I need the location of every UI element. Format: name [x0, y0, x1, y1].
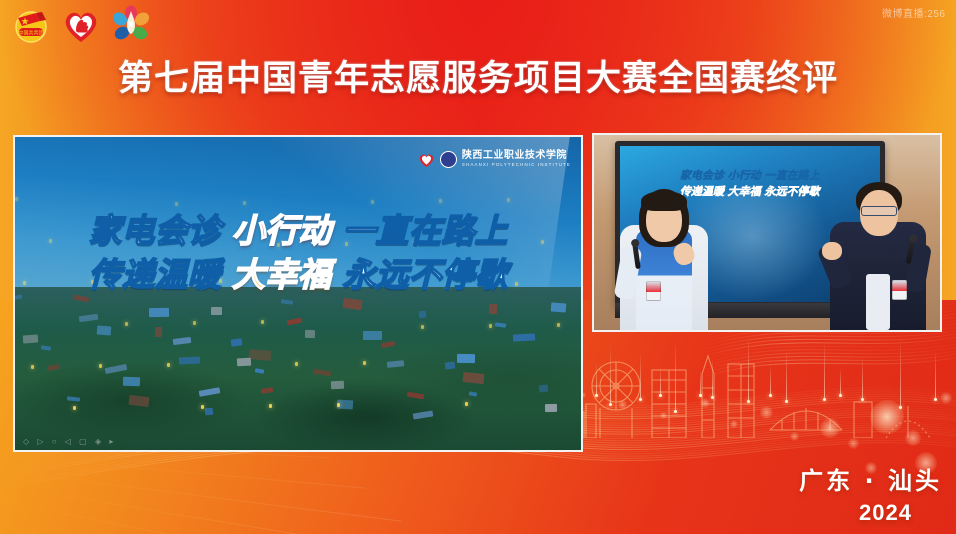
presenter-female-badge: [646, 281, 661, 301]
village-house: [281, 300, 293, 305]
village-house: [255, 368, 265, 374]
village-house: [407, 392, 425, 400]
village-house: [149, 308, 169, 317]
slogan-l1-p3: 一直在路上: [343, 211, 508, 250]
slogan-l2-p1: 传递温暖: [89, 255, 221, 294]
presenter-male-glasses: [861, 206, 897, 216]
video-village-ground: [15, 287, 581, 450]
light-particle: [489, 324, 492, 328]
village-house: [469, 392, 478, 397]
light-particle: [261, 320, 264, 324]
heart-icon: [418, 152, 435, 168]
village-house: [513, 334, 535, 342]
village-house: [179, 357, 200, 365]
presenter-male-badge: [892, 280, 907, 300]
village-house: [463, 372, 485, 384]
village-house: [287, 318, 303, 326]
light-particle: [193, 321, 196, 325]
light-particle: [201, 405, 204, 409]
main-video-panel[interactable]: 陕西工业职业技术学院 SHAANXI POLYTECHNIC INSTITUTE…: [13, 135, 583, 452]
slogan-l2-p2: 大幸福: [232, 255, 331, 294]
presenter-male-shirt: [866, 274, 890, 330]
village-house: [23, 335, 39, 344]
presenter-female-fringe: [641, 191, 687, 211]
village-house: [413, 411, 434, 420]
village-house: [128, 395, 149, 407]
village-house: [545, 404, 557, 412]
village-house: [211, 307, 222, 315]
light-particle: [439, 199, 442, 203]
village-house: [342, 298, 362, 311]
village-house: [67, 397, 80, 402]
light-particle: [73, 406, 76, 410]
village-house: [381, 341, 396, 349]
light-particle: [557, 323, 560, 327]
slogan-l2-p3: 永远不停歇: [343, 255, 508, 294]
light-particle: [243, 201, 246, 205]
light-particle: [363, 361, 366, 365]
presenter-male-hand-left: [822, 242, 842, 260]
village-house: [489, 304, 498, 314]
communist-youth-league-emblem: 中国共青团: [10, 4, 52, 46]
header-banner: 中国共青团: [0, 0, 956, 128]
village-house: [495, 323, 506, 328]
light-particle: [337, 403, 340, 407]
institute-watermark-logo: 陕西工业职业技术学院 SHAANXI POLYTECHNIC INSTITUTE: [418, 151, 571, 168]
village-house: [419, 311, 426, 318]
slogan-l1-p1: 家电会诊: [89, 211, 221, 250]
light-particle: [371, 200, 374, 204]
village-house: [331, 381, 344, 389]
light-particle: [167, 363, 170, 367]
organizer-logos: 中国共青团: [10, 4, 152, 46]
village-house: [551, 303, 567, 313]
village-house: [387, 360, 405, 368]
light-particle: [99, 364, 102, 368]
village-house: [363, 331, 382, 340]
village-house: [231, 339, 243, 347]
slogan-line-2: 传递温暖 大幸福 永远不停歇: [15, 253, 581, 297]
village-house: [305, 330, 315, 338]
light-particle: [507, 198, 510, 202]
presenter-male: [824, 180, 932, 330]
slogan-line-1: 家电会诊 小行动 一直在路上: [15, 209, 581, 253]
side-video-panel[interactable]: 家电会诊 小行动 一直在路上 传递温暖 大幸福 永远不停歇: [592, 133, 942, 332]
village-house: [199, 387, 221, 397]
light-particle: [31, 365, 34, 369]
village-house: [105, 364, 128, 374]
institute-name-en: SHAANXI POLYTECHNIC INSTITUTE: [462, 163, 571, 168]
village-house: [445, 362, 456, 370]
light-particle: [125, 322, 128, 326]
page-title: 第七届中国青年志愿服务项目大赛全国赛终评: [0, 62, 956, 97]
light-particle: [269, 404, 272, 408]
village-house: [79, 314, 99, 323]
village-house: [237, 358, 251, 367]
broadcast-stage: 中国共青团: [0, 0, 956, 534]
village-house: [47, 364, 61, 371]
village-house: [249, 349, 272, 361]
volunteer-heart-hand-logo: [60, 4, 102, 46]
light-particle: [175, 202, 178, 206]
light-particle: [15, 197, 18, 201]
village-house: [539, 385, 549, 393]
village-house: [313, 369, 332, 377]
village-house: [97, 326, 112, 336]
youth-federation-flower-logo: [110, 4, 152, 46]
village-house: [205, 408, 214, 416]
video-player-controls[interactable]: ◇ ▷ ○ ◁ ▢ ◈ ▸: [23, 437, 116, 446]
village-house: [155, 327, 163, 337]
village-house: [261, 387, 274, 394]
village-house: [457, 354, 475, 363]
institute-seal-icon: [440, 151, 457, 168]
light-particle: [295, 362, 298, 366]
institute-name-cn: 陕西工业职业技术学院: [462, 151, 571, 161]
light-particle: [421, 325, 424, 329]
slogan-l1-p2: 小行动: [232, 211, 331, 250]
village-house: [173, 337, 192, 345]
event-year: 2024: [859, 500, 912, 526]
presenter-female: [612, 185, 717, 330]
svg-text:中国共青团: 中国共青团: [18, 29, 43, 36]
stream-watermark: 微博直播:256: [882, 5, 954, 20]
village-house: [41, 345, 52, 351]
village-house: [123, 377, 140, 387]
video-slogan: 家电会诊 小行动 一直在路上 传递温暖 大幸福 永远不停歇: [15, 209, 581, 297]
light-particle: [465, 402, 468, 406]
event-location: 广东 · 汕头: [799, 461, 942, 496]
